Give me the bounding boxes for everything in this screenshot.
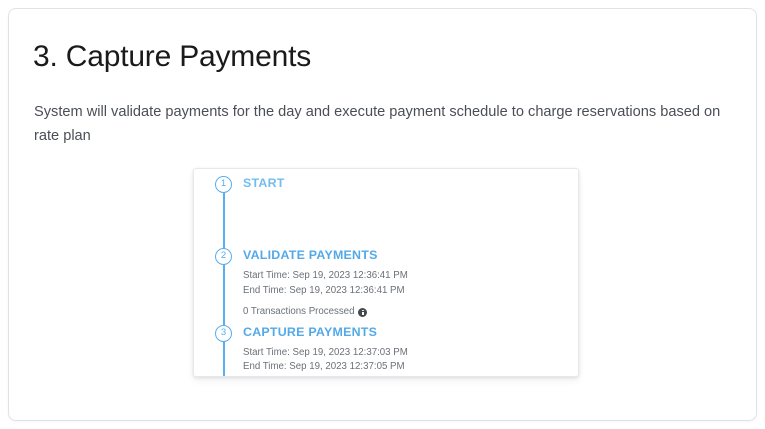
timeline-step-start[interactable]: 1 START bbox=[205, 175, 579, 193]
timeline-step-capture-payments[interactable]: 3 CAPTURE PAYMENTS Start Time: Sep 19, 2… bbox=[205, 324, 579, 377]
info-icon[interactable] bbox=[358, 308, 367, 317]
step-title-capture-payments: CAPTURE PAYMENTS bbox=[243, 325, 579, 340]
page-subtitle: System will validate payments for the da… bbox=[34, 100, 734, 148]
step-marker-2: 2 bbox=[215, 248, 232, 265]
step-title-start: START bbox=[243, 176, 579, 191]
page-frame: 3. Capture Payments System will validate… bbox=[8, 8, 757, 421]
step-meta-2: Start Time: Sep 19, 2023 12:36:41 PM End… bbox=[243, 269, 579, 320]
step-2-end-time: End Time: Sep 19, 2023 12:36:41 PM bbox=[243, 284, 579, 299]
step-body-1: START bbox=[232, 175, 579, 191]
step-meta-3: Start Time: Sep 19, 2023 12:37:03 PM End… bbox=[243, 346, 579, 377]
step-body-3: CAPTURE PAYMENTS Start Time: Sep 19, 202… bbox=[232, 324, 579, 377]
step-3-start-time: Start Time: Sep 19, 2023 12:37:03 PM bbox=[243, 346, 579, 361]
step-title-validate-payments: VALIDATE PAYMENTS bbox=[243, 248, 579, 263]
timeline-step-validate-payments[interactable]: 2 VALIDATE PAYMENTS Start Time: Sep 19, … bbox=[205, 247, 579, 320]
timeline: 1 START 2 VALIDATE PAYMENTS Start Time: … bbox=[205, 175, 579, 377]
step-marker-1: 1 bbox=[215, 176, 232, 193]
step-2-start-time: Start Time: Sep 19, 2023 12:36:41 PM bbox=[243, 269, 579, 284]
timeline-scroll-area[interactable]: 1 START 2 VALIDATE PAYMENTS Start Time: … bbox=[194, 169, 579, 377]
step-body-2: VALIDATE PAYMENTS Start Time: Sep 19, 20… bbox=[232, 247, 579, 320]
timeline-card: 1 START 2 VALIDATE PAYMENTS Start Time: … bbox=[193, 168, 579, 377]
step-3-end-time: End Time: Sep 19, 2023 12:37:05 PM bbox=[243, 360, 579, 375]
step-2-transactions-row: 0 Transactions Processed bbox=[243, 305, 579, 320]
step-spacer-1 bbox=[205, 193, 579, 247]
step-2-transactions-label: 0 Transactions Processed bbox=[243, 305, 354, 320]
step-marker-3: 3 bbox=[215, 325, 232, 342]
page-title: 3. Capture Payments bbox=[33, 38, 311, 76]
